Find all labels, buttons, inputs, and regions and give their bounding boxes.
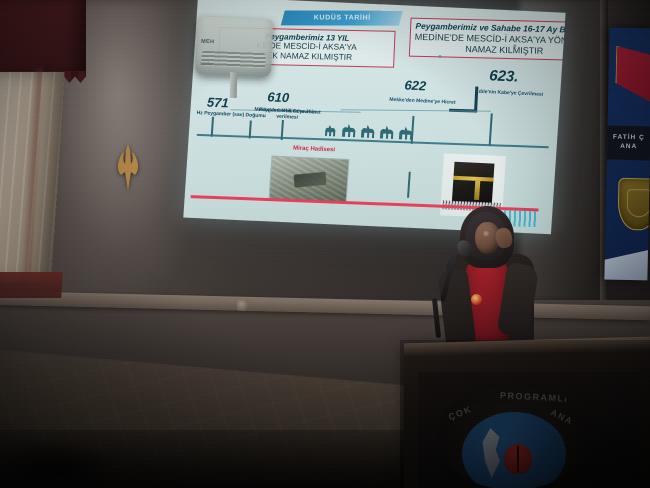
floor-dark-corner: [0, 440, 120, 488]
ac-brand-label: MEH: [201, 39, 214, 45]
camel-caravan-icon: [323, 118, 428, 145]
ac-pipe: [230, 72, 237, 98]
slide-callout-2: Peygamberimiz ve Sahabe 16-17 Ay Boyunca…: [409, 18, 566, 62]
timeline-year-571: 571: [206, 95, 229, 111]
miraj-label: Miraç Hadisesi: [274, 145, 354, 155]
banner-crest-icon: [617, 178, 650, 231]
timeline-connector-2: [341, 109, 491, 112]
podium-logo-word-1: ÇOK: [447, 404, 473, 422]
podium-logo-word-3: ANA: [549, 407, 575, 427]
slide-dot-2: [438, 55, 441, 58]
timeline-tick-7: [407, 172, 411, 198]
slide-photo-aksa: [269, 156, 350, 203]
curtain-valance: [0, 0, 86, 76]
banner-line-1: FATİH Ç: [613, 134, 645, 143]
banner-flag-icon: [615, 46, 650, 107]
wall-ornament-icon: [112, 142, 144, 190]
speaker-vest-badge: [471, 294, 482, 305]
podium-logo-word-2: PROGRAMLI: [500, 390, 569, 404]
wall-outlet: [237, 300, 248, 311]
school-banner: FATİH Ç ANA: [604, 28, 650, 281]
timeline-caption-610b: Peygamberlik Görevinin verilmesi: [248, 106, 327, 122]
presentation-photo-scene: KUDÜS TARİHİ Peygamberimiz 13 YIL KE'DE …: [0, 0, 650, 488]
speaker-face-highlight: [482, 230, 490, 237]
ac-body: [195, 17, 273, 78]
slide-ribbon-label: KUDÜS TARİHİ: [313, 14, 370, 21]
microphone-cable: [432, 298, 441, 338]
curtain-base-band: [0, 272, 63, 298]
slide-ribbon: KUDÜS TARİHİ: [281, 10, 403, 25]
timeline-year-622: 622: [404, 77, 427, 93]
banner-bottom-shape: [604, 247, 650, 280]
timeline-year-623: 623.: [489, 67, 519, 85]
timeline-caption-623: Kıble'nin Kabe'ye Çevrilmesi: [470, 88, 548, 98]
air-conditioner-unit: MEH SOĞU: [195, 17, 273, 78]
podium: ÇOK PROGRAMLI ANA: [404, 348, 650, 488]
ac-sub-label: SOĞU: [200, 61, 213, 66]
banner-title-strip: FATİH Ç ANA: [607, 126, 650, 161]
timeline-year-610: 610: [267, 89, 290, 105]
podium-logo-text: ÇOK PROGRAMLI ANA: [438, 382, 588, 488]
banner-line-2: ANA: [620, 143, 637, 152]
timeline-tick-5: [489, 113, 493, 145]
podium-logo: ÇOK PROGRAMLI ANA: [438, 382, 588, 488]
